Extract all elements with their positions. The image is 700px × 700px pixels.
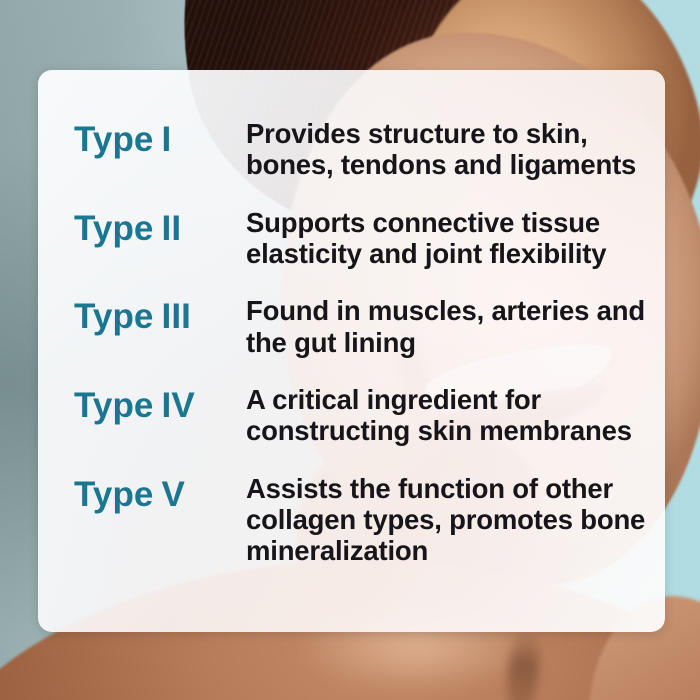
collagen-type-description: Assists the function of other collagen t… xyxy=(246,473,665,567)
collagen-type-label: TypeIV xyxy=(74,384,246,424)
type-word: Type xyxy=(74,297,154,336)
list-item: TypeIII Found in muscles, arteries and t… xyxy=(38,295,665,358)
type-word: Type xyxy=(74,475,154,514)
list-item: TypeIV A critical ingredient for constru… xyxy=(38,384,665,447)
collagen-type-description: Found in muscles, arteries and the gut l… xyxy=(246,295,665,358)
collagen-type-description: Provides structure to skin, bones, tendo… xyxy=(246,118,665,181)
type-numeral: I xyxy=(162,120,172,159)
type-word: Type xyxy=(74,386,154,425)
collagen-type-label: TypeV xyxy=(74,473,246,513)
type-numeral: V xyxy=(162,475,185,514)
list-item: TypeII Supports connective tissue elasti… xyxy=(38,207,665,270)
type-numeral: III xyxy=(162,297,191,336)
collagen-type-label: TypeIII xyxy=(74,295,246,335)
type-word: Type xyxy=(74,209,154,248)
list-item: TypeV Assists the function of other coll… xyxy=(38,473,665,567)
collagen-type-label: TypeII xyxy=(74,207,246,247)
infographic-stage: TypeI Provides structure to skin, bones,… xyxy=(0,0,700,700)
type-word: Type xyxy=(74,120,154,159)
collagen-type-label: TypeI xyxy=(74,118,246,158)
type-numeral: II xyxy=(162,209,182,248)
list-item: TypeI Provides structure to skin, bones,… xyxy=(38,118,665,181)
type-numeral: IV xyxy=(162,386,195,425)
collagen-type-description: Supports connective tissue elasticity an… xyxy=(246,207,665,270)
collagen-type-description: A critical ingredient for constructing s… xyxy=(246,384,665,447)
collagen-types-card: TypeI Provides structure to skin, bones,… xyxy=(38,70,665,632)
collagen-types-list: TypeI Provides structure to skin, bones,… xyxy=(38,118,665,567)
